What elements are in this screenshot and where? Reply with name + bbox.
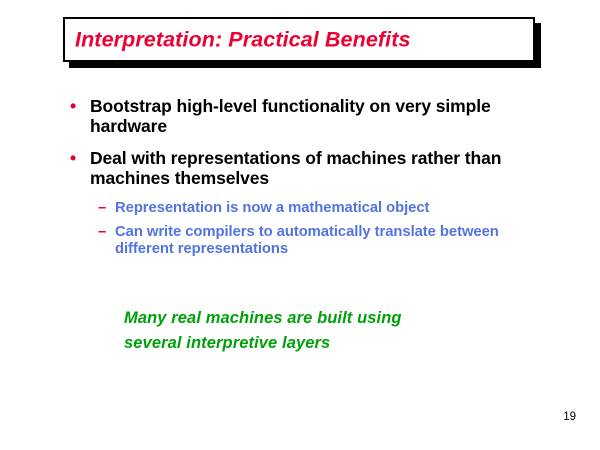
slide-canvas: Interpretation: Practical Benefits • Boo… xyxy=(0,0,600,450)
page-title: Interpretation: Practical Benefits xyxy=(75,28,411,51)
title-box: Interpretation: Practical Benefits xyxy=(63,17,535,62)
sub-list-item: – Can write compilers to automatically t… xyxy=(98,224,535,260)
dash-icon: – xyxy=(98,200,106,218)
callout-line-2: several interpretive layers xyxy=(124,331,524,356)
callout-line-1: Many real machines are built using xyxy=(124,306,524,331)
sub-list-item-label: Representation is now a mathematical obj… xyxy=(115,200,429,216)
bullet-dot-icon: • xyxy=(70,96,76,116)
sub-list-item-label: Can write compilers to automatically tra… xyxy=(115,224,499,258)
dash-icon: – xyxy=(98,224,106,242)
list-item: • Deal with representations of machines … xyxy=(66,148,560,189)
slide-body: • Bootstrap high-level functionality on … xyxy=(0,96,600,265)
list-item-label: Bootstrap high-level functionality on ve… xyxy=(90,96,491,136)
bullet-dot-icon: • xyxy=(70,148,76,168)
callout-text: Many real machines are built using sever… xyxy=(124,306,524,356)
list-item-label: Deal with representations of machines ra… xyxy=(90,148,501,188)
list-item: • Bootstrap high-level functionality on … xyxy=(66,96,560,137)
page-number: 19 xyxy=(563,412,576,424)
slide-title-block: Interpretation: Practical Benefits xyxy=(63,17,535,62)
sub-list-item: – Representation is now a mathematical o… xyxy=(98,200,535,218)
